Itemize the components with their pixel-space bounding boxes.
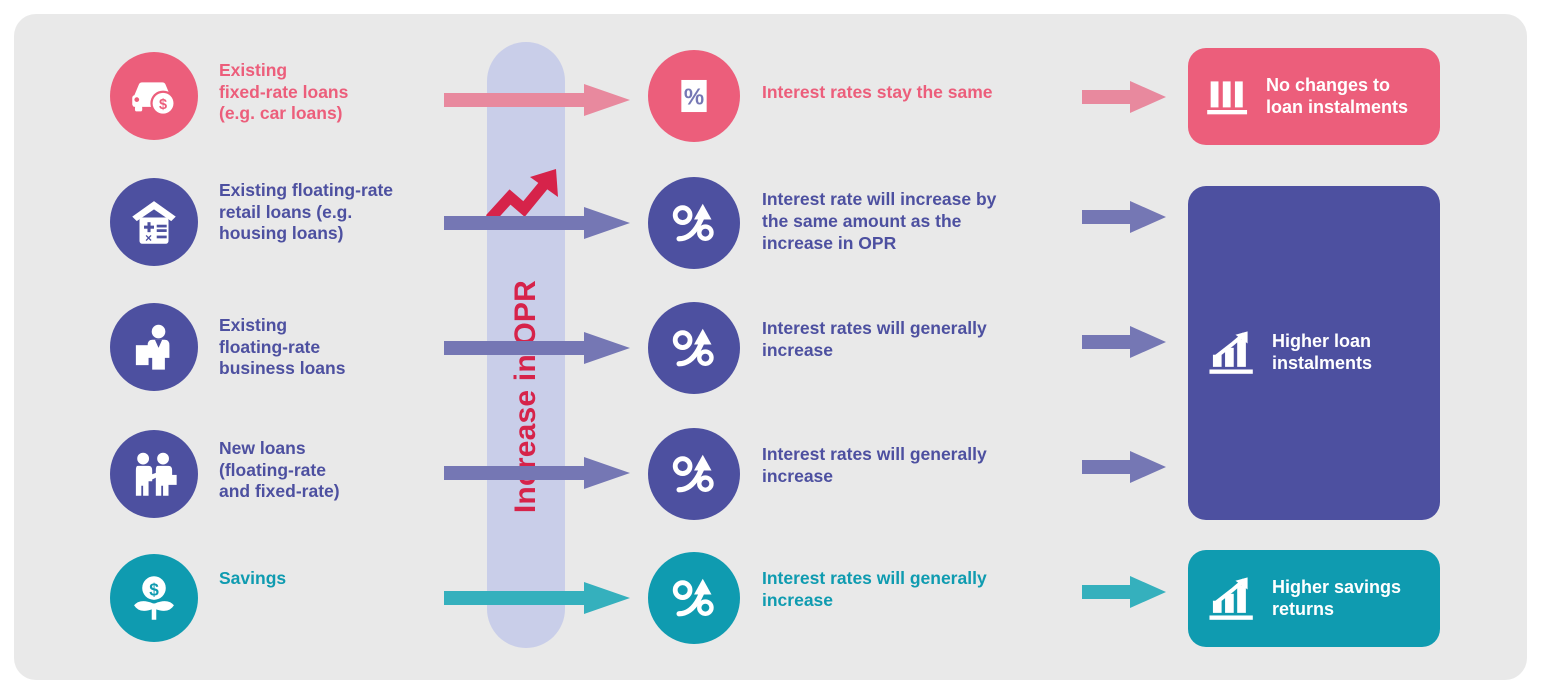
outcome-box-higher-savings: Higher savings returns — [1188, 550, 1440, 647]
source-label-4: New loans (floating-rate and fixed-rate) — [219, 438, 340, 503]
source-label-2: Existing floating-rate retail loans (e.g… — [219, 180, 393, 245]
outcome-text-4: Interest rates will generally increase — [762, 444, 987, 488]
outcome-arrow-3 — [1082, 323, 1166, 366]
outcome-arrow-2 — [1082, 198, 1166, 241]
percent-up-arrow-icon — [648, 177, 740, 269]
outcome-box-higher-loan: Higher loan instalments — [1188, 186, 1440, 520]
outcome-box-label-3: Higher savings returns — [1272, 577, 1401, 621]
outcome-text-5: Interest rates will generally increase — [762, 568, 987, 612]
source-label-3: Existing floating-rate business loans — [219, 315, 345, 380]
percent-up-arrow-icon — [648, 428, 740, 520]
svg-text:×: × — [145, 232, 152, 245]
outcome-text-1: Interest rates stay the same — [762, 82, 993, 104]
outcome-arrow-4 — [1082, 448, 1166, 491]
money-plant-icon: $ — [110, 554, 198, 642]
outcome-text-3: Interest rates will generally increase — [762, 318, 987, 362]
connector-arrow-1 — [444, 82, 630, 123]
svg-text:$: $ — [159, 97, 167, 113]
svg-text:$: $ — [149, 579, 159, 599]
businessman-dollar-icon: $ — [110, 303, 198, 391]
percent-up-arrow-icon — [648, 302, 740, 394]
outcome-text-2: Interest rate will increase by the same … — [762, 189, 996, 255]
rising-bar-chart-arrow-icon — [1206, 328, 1258, 378]
outcome-box-no-change: No changes to loan instalments — [1188, 48, 1440, 145]
connector-arrow-3 — [444, 330, 630, 371]
source-label-1: Existing fixed-rate loans (e.g. car loan… — [219, 60, 348, 125]
outcome-box-label-1: No changes to loan instalments — [1266, 75, 1408, 119]
flat-bar-chart-icon — [1202, 72, 1254, 122]
handshake-people-icon — [110, 430, 198, 518]
svg-text:%: % — [684, 83, 704, 109]
outcome-arrow-1 — [1082, 78, 1166, 121]
outcome-arrow-5 — [1082, 573, 1166, 616]
percent-flat-icon: % — [648, 50, 740, 142]
connector-arrow-2 — [444, 205, 630, 246]
infographic-root: Increase in OPR $ Existing fixed-rate lo… — [0, 0, 1541, 694]
connector-arrow-5 — [444, 580, 630, 621]
opr-vertical-label: Increase in OPR — [493, 232, 559, 562]
outcome-box-label-2: Higher loan instalments — [1272, 331, 1372, 375]
percent-up-arrow-icon — [648, 552, 740, 644]
source-label-5: Savings — [219, 568, 286, 590]
rising-bar-chart-arrow-icon — [1206, 574, 1258, 624]
house-calculator-icon: × — [110, 178, 198, 266]
car-with-dollar-coin-icon: $ — [110, 52, 198, 140]
connector-arrow-4 — [444, 455, 630, 496]
